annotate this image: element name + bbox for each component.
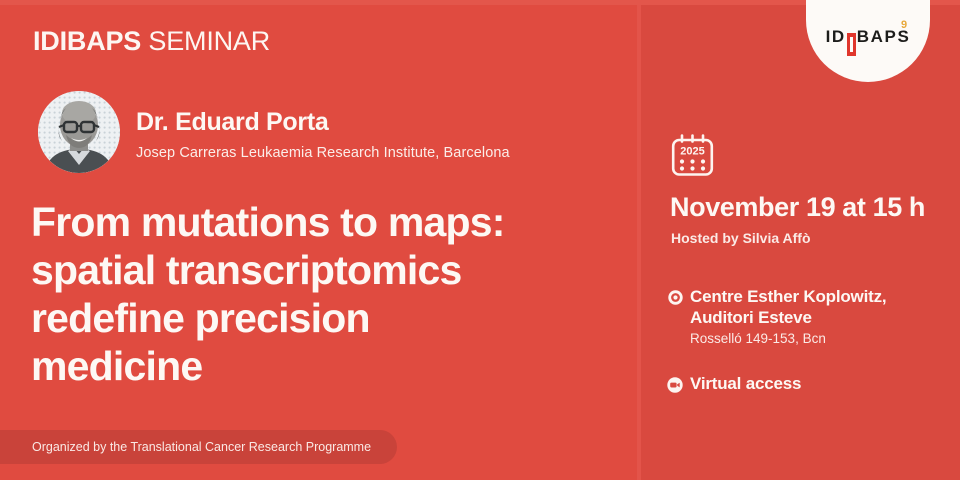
- poster-header: IDIBAPS SEMINAR: [33, 26, 270, 57]
- calendar-year-label: 2025: [680, 146, 704, 158]
- calendar-icon: 2025: [671, 133, 714, 177]
- header-brand: IDIBAPS: [33, 26, 141, 56]
- speaker-name: Dr. Eduard Porta: [136, 108, 328, 137]
- logo-red-i-block: I: [847, 33, 856, 56]
- venue-line-1: Centre Esther Koplowitz,: [690, 286, 960, 307]
- organizer-label: Organized by the Translational Cancer Re…: [32, 440, 371, 454]
- seminar-title: From mutations to maps: spatial transcri…: [31, 198, 631, 390]
- venue-address: Rosselló 149-153, Bcn: [690, 331, 826, 346]
- logo-part-a: ID: [826, 27, 846, 46]
- avatar-photo-icon: [38, 91, 120, 173]
- organizer-banner: Organized by the Translational Cancer Re…: [0, 430, 397, 464]
- logo-superscript: 9: [901, 19, 907, 31]
- location-pin-icon: [668, 290, 683, 305]
- video-camera-icon: [667, 377, 683, 393]
- seminar-poster: IDIBAPS SEMINAR IDIBAPS 9: [0, 0, 960, 480]
- avatar: [38, 91, 120, 173]
- title-line-2: spatial transcriptomics: [31, 246, 631, 294]
- logo-wordmark: IDIBAPS: [806, 27, 930, 56]
- venue-name: Centre Esther Koplowitz, Auditori Esteve: [690, 286, 960, 328]
- speaker-affiliation: Josep Carreras Leukaemia Research Instit…: [136, 145, 510, 161]
- event-host: Hosted by Silvia Affò: [671, 230, 811, 246]
- virtual-access-label: Virtual access: [690, 374, 801, 394]
- venue-line-2: Auditori Esteve: [690, 307, 960, 328]
- title-line-4: medicine: [31, 342, 631, 390]
- title-line-1: From mutations to maps:: [31, 198, 631, 246]
- title-line-3: redefine precision: [31, 294, 631, 342]
- header-kind: SEMINAR: [141, 26, 270, 56]
- event-date: November 19 at 15 h: [670, 192, 925, 223]
